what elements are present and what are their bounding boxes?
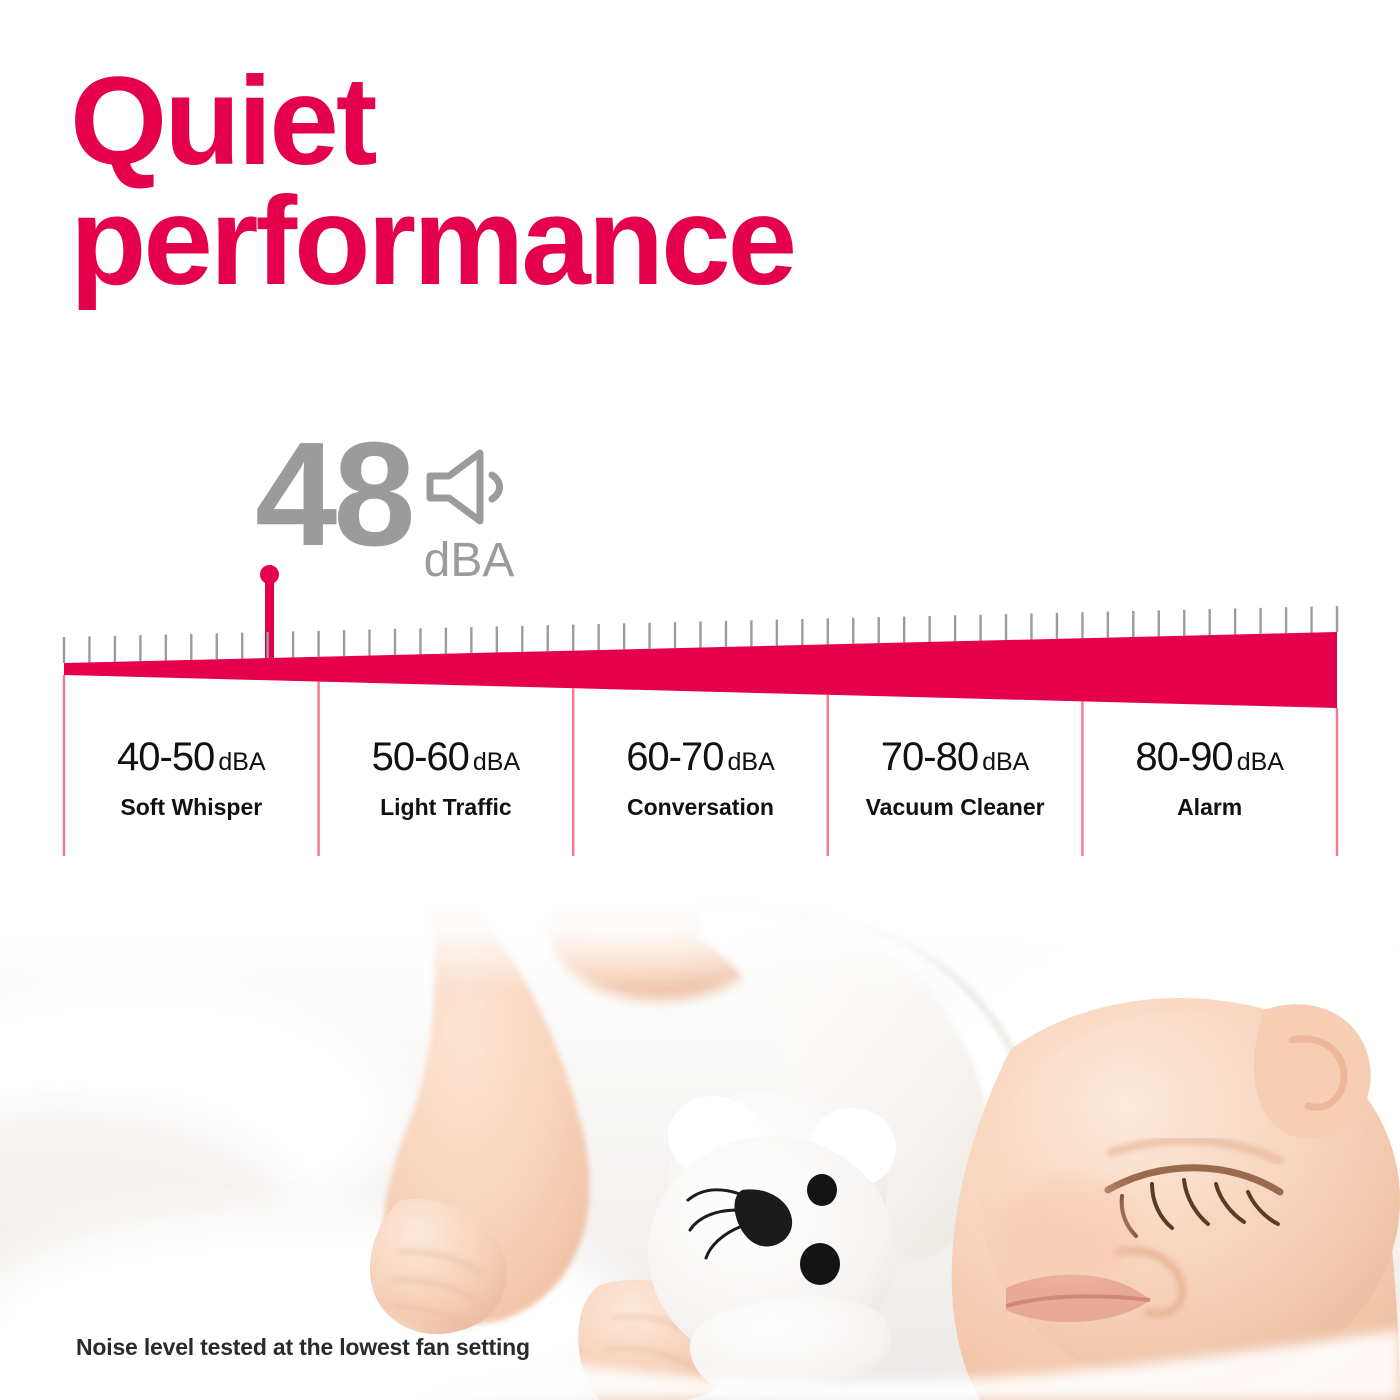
noise-value: 48 — [255, 430, 412, 560]
segment-range: 70-80dBA — [828, 735, 1083, 780]
headline-line-2: performance — [70, 182, 1070, 302]
segment-name: Vacuum Cleaner — [828, 794, 1083, 821]
page-title: Quiet performance — [70, 62, 1070, 302]
segment-range: 50-60dBA — [319, 735, 574, 780]
marker-stem-line — [265, 574, 274, 666]
scale-ticks — [64, 606, 1337, 663]
noise-unit-label: dBA — [424, 537, 515, 585]
segment-name: Light Traffic — [319, 794, 574, 821]
segment-unit: dBA — [982, 748, 1029, 776]
segment-3: 70-80dBA Vacuum Cleaner — [828, 735, 1083, 821]
segment-0: 40-50dBA Soft Whisper — [64, 735, 319, 821]
segment-label-row: 40-50dBA Soft Whisper 50-60dBA Light Tra… — [64, 735, 1337, 821]
segment-1: 50-60dBA Light Traffic — [319, 735, 574, 821]
segment-unit: dBA — [728, 748, 775, 776]
segment-range: 80-90dBA — [1082, 735, 1337, 780]
segment-range: 40-50dBA — [64, 735, 319, 780]
segment-unit: dBA — [1237, 748, 1284, 776]
segment-name: Soft Whisper — [64, 794, 319, 821]
loudness-wedge — [64, 632, 1337, 708]
segment-unit: dBA — [473, 748, 520, 776]
noise-value-block: 48 dBA — [255, 430, 514, 585]
segment-unit: dBA — [218, 748, 265, 776]
segment-range: 60-70dBA — [573, 735, 828, 780]
infographic-page: Quiet performance 48 dBA 40-50dBA — [0, 0, 1400, 1400]
segment-name: Conversation — [573, 794, 828, 821]
sleeping-baby-photo — [0, 900, 1400, 1400]
speaker-icon — [422, 448, 514, 531]
footnote-text: Noise level tested at the lowest fan set… — [76, 1334, 530, 1361]
segment-2: 60-70dBA Conversation — [573, 735, 828, 821]
segment-4: 80-90dBA Alarm — [1082, 735, 1337, 821]
headline-line-1: Quiet — [70, 52, 374, 191]
noise-unit-column: dBA — [422, 430, 515, 585]
segment-name: Alarm — [1082, 794, 1337, 821]
